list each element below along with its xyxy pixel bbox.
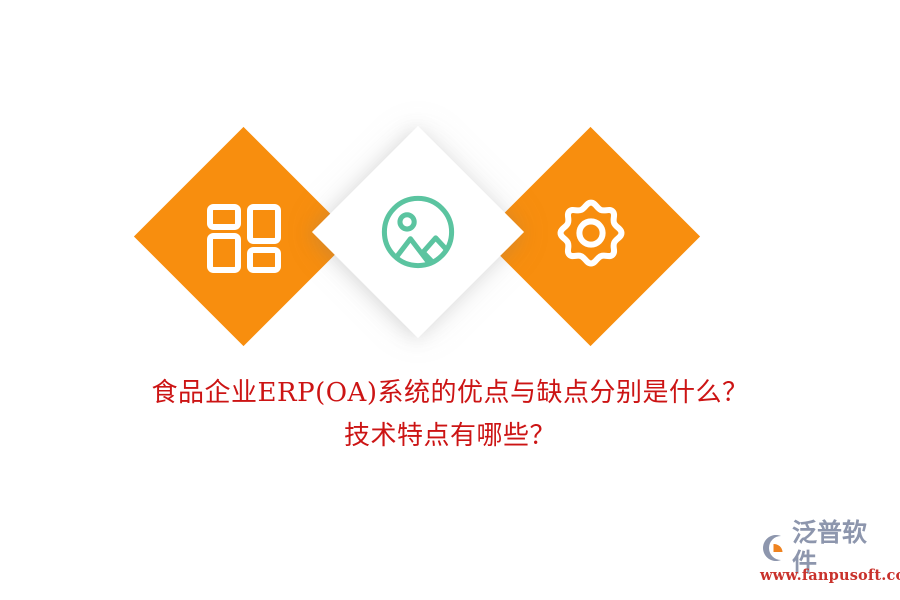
image-icon bbox=[343, 157, 493, 307]
gear-icon bbox=[513, 159, 668, 314]
watermark-brand-row: 泛普软件 bbox=[760, 530, 888, 566]
watermark-logo: 泛普软件 www.fanpusoft.com bbox=[760, 530, 888, 588]
diamond-tile-image[interactable] bbox=[312, 126, 524, 338]
fanpu-website-url: www.fanpusoft.com bbox=[760, 567, 888, 585]
fanpu-logo-mark-icon bbox=[760, 533, 790, 563]
fanpu-logo-mark-svg bbox=[760, 533, 790, 563]
page-title-line-1: 食品企业ERP(OA)系统的优点与缺点分别是什么？ bbox=[0, 372, 900, 415]
page-canvas: 食品企业ERP(OA)系统的优点与缺点分别是什么？ 技术特点有哪些？ 泛普软件 … bbox=[0, 0, 900, 600]
image-icon-svg bbox=[376, 190, 460, 274]
page-title-line-2: 技术特点有哪些？ bbox=[0, 415, 900, 458]
diamond-cluster bbox=[0, 0, 900, 370]
grid-icon-svg bbox=[205, 198, 283, 276]
gear-icon-svg bbox=[548, 194, 634, 280]
grid-icon bbox=[166, 159, 321, 314]
page-title: 食品企业ERP(OA)系统的优点与缺点分别是什么？ 技术特点有哪些？ bbox=[0, 372, 900, 458]
